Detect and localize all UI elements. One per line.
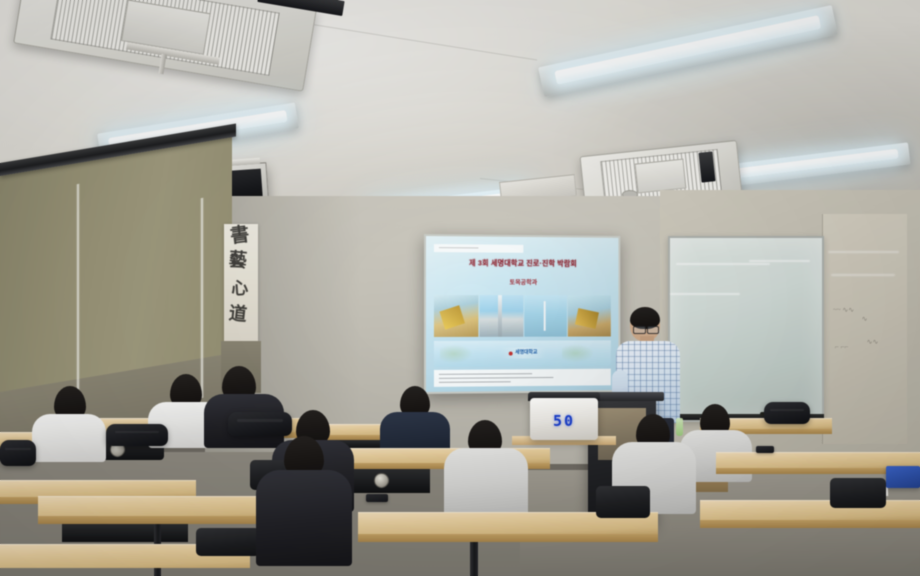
logo-mark <box>509 351 513 355</box>
slide-map-right <box>562 343 596 363</box>
slide-header-bar <box>434 244 523 252</box>
smartphone[interactable] <box>366 494 388 502</box>
logo-text: 세명대학교 <box>515 351 537 356</box>
student-torso-white <box>32 414 106 462</box>
presenter-glasses <box>633 326 646 334</box>
clock-digits: 50 <box>530 412 598 430</box>
excavator-photo <box>434 295 478 337</box>
desk-surface <box>700 500 920 520</box>
whiteboard-streak <box>676 263 770 265</box>
panel-streak <box>828 251 899 253</box>
desk-badge <box>374 473 389 488</box>
ac-center-panel <box>635 158 687 193</box>
digital-clock: 50 <box>530 398 598 440</box>
slide-footer <box>434 369 611 387</box>
wall-scrawl: ∿ <box>862 315 868 323</box>
heavy-equipment-photo <box>568 296 611 337</box>
slide-title: 제 3회 세명대학교 진로·진학 박람회 <box>426 258 618 269</box>
wall-scrawl: ∿∿ <box>867 338 879 346</box>
backpack <box>228 412 292 436</box>
backpack <box>0 440 36 466</box>
chair-back <box>196 528 260 556</box>
scroll-glyph: 心 <box>230 273 249 299</box>
blind-seam <box>200 198 204 399</box>
student-torso-white <box>444 448 528 518</box>
slide-logo: 세명대학교 <box>500 348 546 359</box>
smartphone[interactable] <box>756 446 774 453</box>
whiteboard-streak <box>749 260 810 262</box>
desk-surface <box>0 480 196 497</box>
ac-vent-right <box>698 151 715 182</box>
footer-line <box>439 377 553 379</box>
right-wall-panel: ~~ ∿∿ ∿ ⌐ ⌐⌐ ∿∿ <box>822 214 907 444</box>
wind-turbine-photo <box>524 295 567 337</box>
backpack <box>106 424 168 446</box>
slide-photo-strip <box>434 295 611 337</box>
slide-subtitle: 토목공학과 <box>426 277 618 287</box>
chair-back <box>830 478 886 508</box>
panel-streak <box>831 274 895 276</box>
footer-line <box>439 381 511 383</box>
scroll-glyph: 藝 <box>228 245 248 272</box>
whiteboard-streak <box>670 293 740 295</box>
wall-scrawl: ⌐ ⌐⌐ <box>835 343 849 351</box>
water-bottle[interactable] <box>676 418 683 436</box>
slide-map-left <box>440 343 475 363</box>
whiteboard <box>668 236 824 422</box>
desk-row-front-left <box>0 480 196 497</box>
calligraphy-scroll: 書 藝 心 道 <box>224 224 258 342</box>
blue-folder[interactable] <box>886 466 920 488</box>
scroll-glyph: 道 <box>228 299 249 327</box>
bridge-photo <box>479 295 523 337</box>
desk-edge <box>700 520 920 528</box>
footer-line <box>439 373 532 375</box>
student-torso-black-front <box>256 470 352 566</box>
desk-leg <box>470 542 478 576</box>
wall-scrawl: ~~ ∿∿ <box>833 306 854 314</box>
desk-edge <box>358 534 658 542</box>
classroom-photo: ~~ ∿∿ ∿ ⌐ ⌐⌐ ∿∿ 書 藝 心 道 제 3회 세명대학교 진로·진학… <box>0 0 920 576</box>
backpack <box>764 402 810 424</box>
blind-seam <box>76 184 80 415</box>
desk-skirt <box>62 524 188 542</box>
screen-surface: 제 3회 세명대학교 진로·진학 박람회 토목공학과 세명대학교 <box>426 236 618 392</box>
presenter-glasses <box>647 326 659 334</box>
chair-back <box>596 486 650 518</box>
desk-skirt <box>352 469 430 493</box>
projection-screen: 제 3회 세명대학교 진로·진학 박람회 토목공학과 세명대학교 <box>424 234 620 394</box>
desk-row-front-far-right <box>700 500 920 520</box>
